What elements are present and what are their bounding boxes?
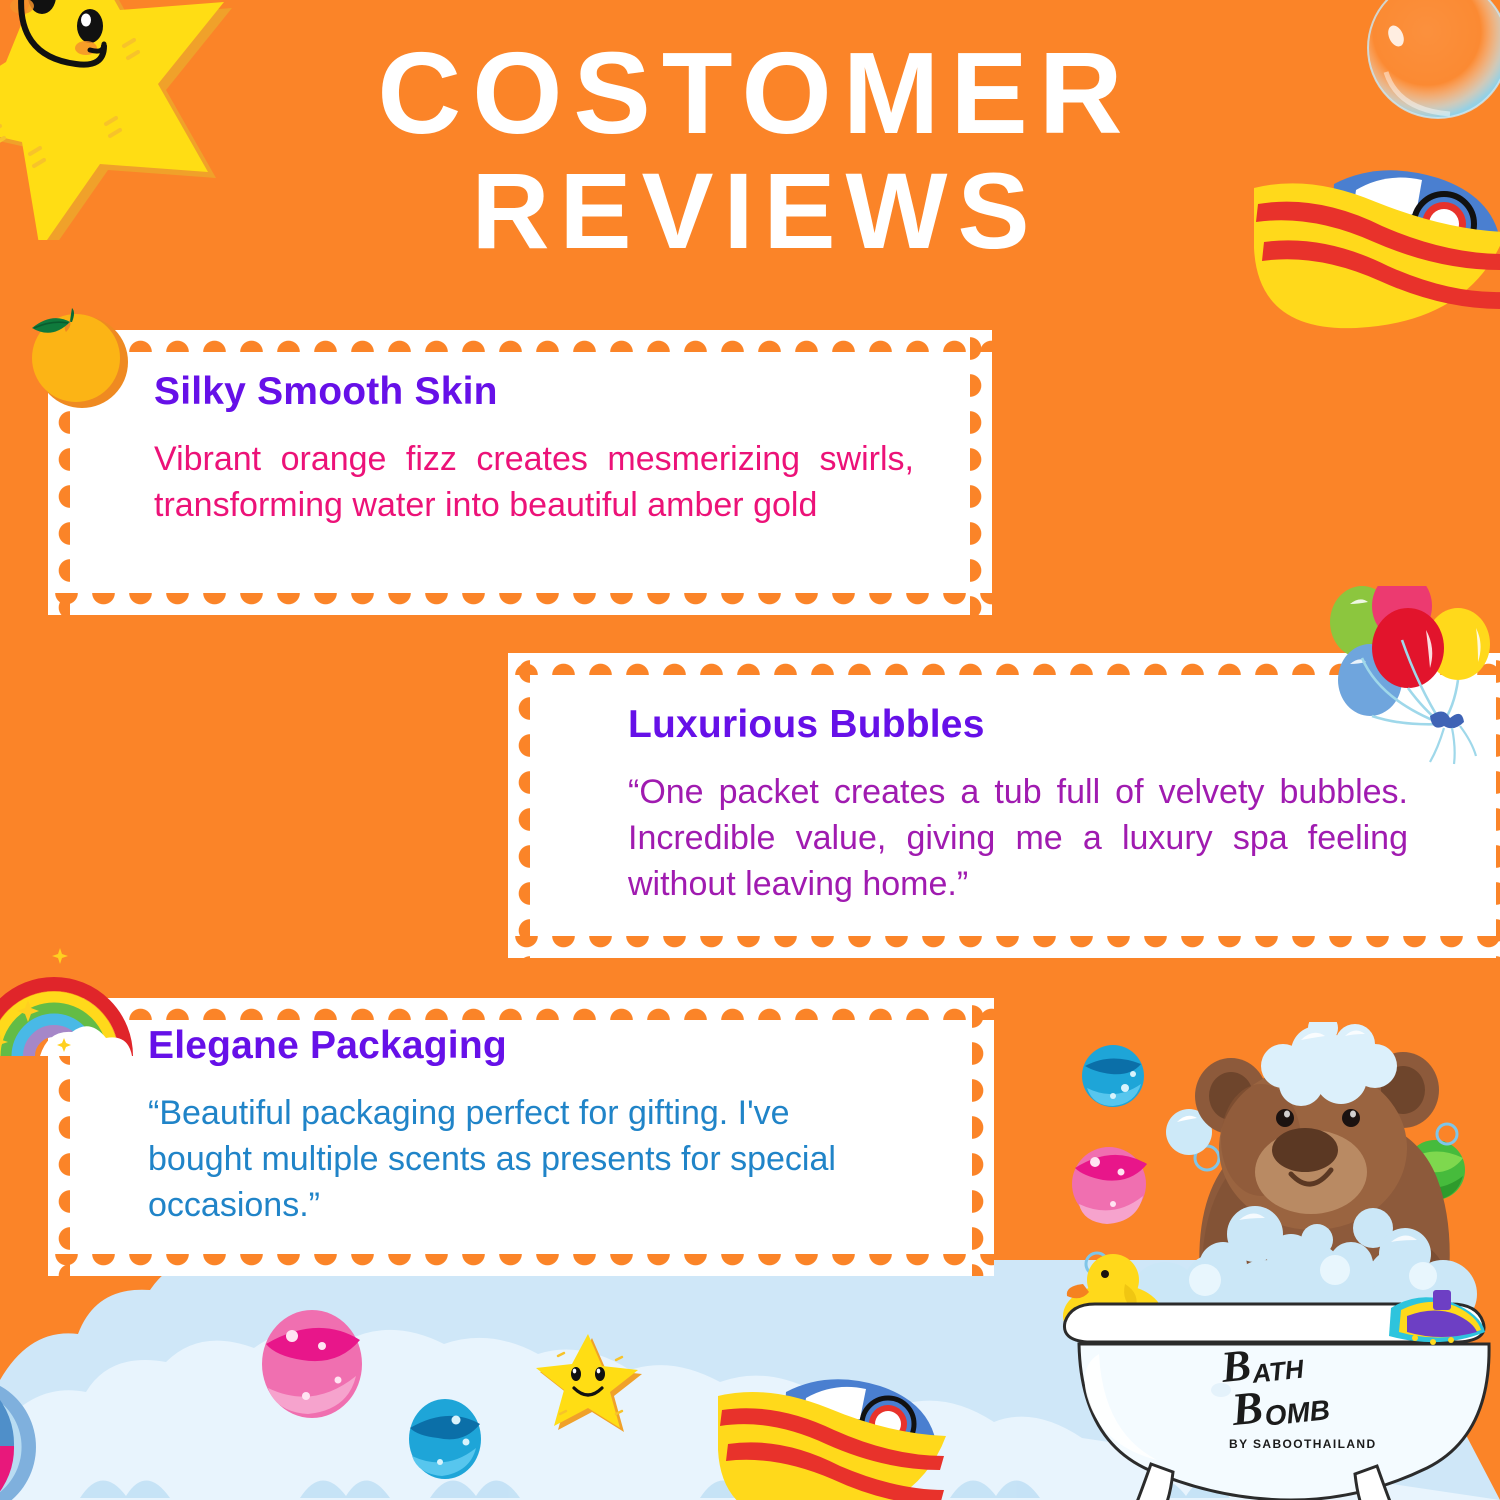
review-title: Elegane Packaging: [148, 1024, 954, 1068]
card-scallop-bottom: [48, 1254, 994, 1276]
smiling-star-icon: [0, 0, 244, 240]
svg-text:B: B: [1228, 1381, 1265, 1435]
bath-bomb-icon: [1072, 1045, 1465, 1224]
svg-text:OMB: OMB: [1263, 1394, 1331, 1432]
rubber-duck-icon: [1063, 1254, 1163, 1348]
title-line-1: COSTOMER: [0, 34, 1500, 152]
review-body: Vibrant orange fizz creates mesmerizing …: [154, 436, 914, 528]
review-body: “One packet creates a tub full of velvet…: [628, 769, 1408, 908]
smiling-star-icon: [536, 1330, 642, 1432]
brand-logo: B ATH B OMB BY SABOOTHAILAND: [1218, 1340, 1377, 1451]
tub-toy-boat-icon: [1389, 1290, 1485, 1345]
card-scallop-bottom: [508, 936, 1500, 958]
svg-text:ATH: ATH: [1250, 1353, 1307, 1388]
bear-body: [1192, 1052, 1450, 1330]
review-title: Luxurious Bubbles: [628, 703, 1458, 747]
swim-ring-icon: [0, 1372, 140, 1500]
title-line-2: REVIEWS: [0, 156, 1500, 266]
cloud-band: [0, 1260, 1500, 1500]
bath-bomb-icon: [258, 1308, 366, 1420]
page-title: COSTOMER REVIEWS: [0, 34, 1500, 266]
soap-bubble-icon: [1356, 0, 1500, 138]
toy-boat-icon: [1238, 158, 1500, 348]
review-title: Silky Smooth Skin: [154, 370, 940, 414]
bathtub: [1064, 1304, 1489, 1500]
review-card-luxurious-bubbles[interactable]: Luxurious Bubbles “One packet creates a …: [508, 653, 1500, 958]
poster-canvas: COSTOMER REVIEWS Silky Smooth Skin Vibra…: [0, 0, 1500, 1500]
toy-boat-icon: [708, 1376, 958, 1500]
review-body: “Beautiful packaging perfect for gifting…: [148, 1090, 896, 1229]
review-card-silky-smooth-skin[interactable]: Silky Smooth Skin Vibrant orange fizz cr…: [48, 330, 992, 615]
bath-bomb-icon: [406, 1398, 484, 1480]
teddy-bear-bathtub-icon: B ATH B OMB BY SABOOTHAILAND: [1055, 1022, 1500, 1500]
svg-text:BY SABOOTHAILAND: BY SABOOTHAILAND: [1229, 1437, 1377, 1451]
review-card-elegane-packaging[interactable]: Elegane Packaging “Beautiful packaging p…: [48, 998, 994, 1276]
card-scallop-bottom: [48, 593, 992, 615]
svg-text:B: B: [1218, 1340, 1253, 1392]
